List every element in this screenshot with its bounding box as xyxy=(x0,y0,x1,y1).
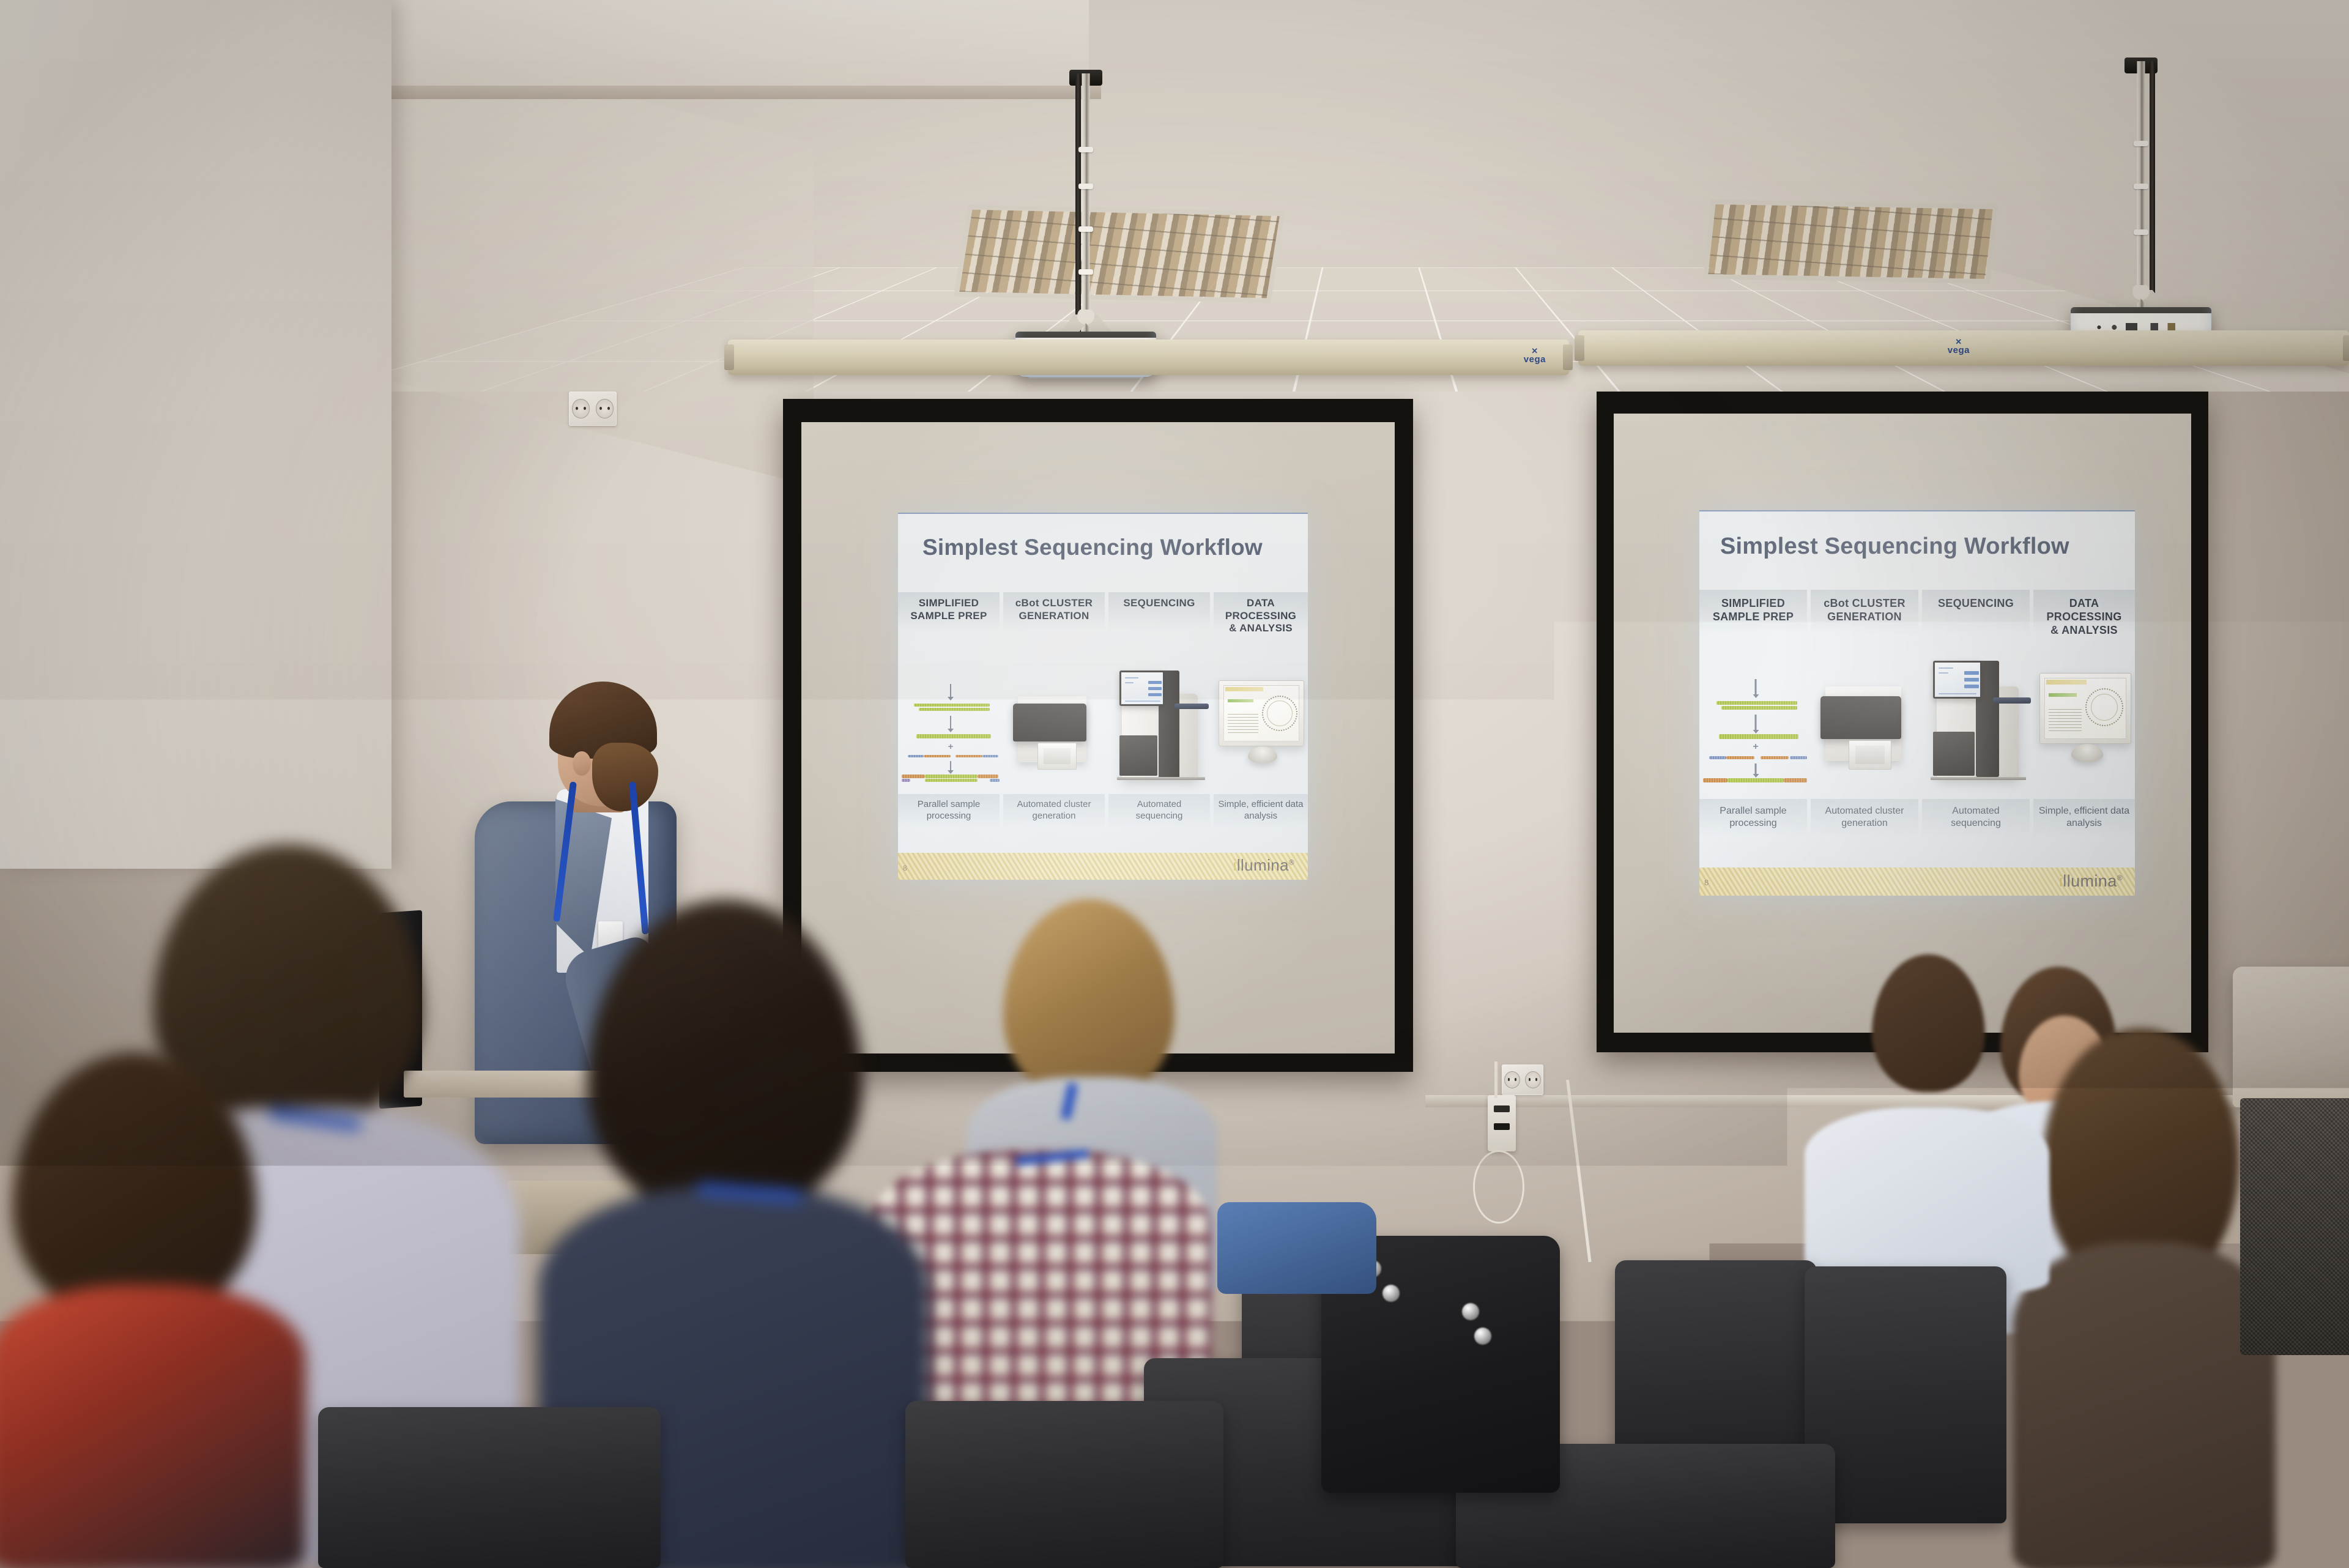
power-strip xyxy=(1488,1095,1516,1151)
slide-right: Simplest Sequencing Workflow SIMPLIFIEDS… xyxy=(1699,510,2135,896)
column-caption-1-left: Automated clustergeneration xyxy=(1003,799,1105,822)
illumina-logo-right: illumina® xyxy=(2059,872,2123,891)
column-caption-0-left: Parallel sampleprocessing xyxy=(898,799,1000,822)
column-caption-2-right: Automatedsequencing xyxy=(1922,805,2030,830)
column-heading-2-left: SEQUENCING xyxy=(1108,597,1210,610)
cbot-instrument-icon xyxy=(1009,689,1100,781)
lecture-room-photo: ✕ vega ✕ vega Simplest Sequencing Workfl… xyxy=(0,0,2349,1568)
cbot-instrument-icon-2 xyxy=(1817,682,1915,779)
dna-strands-icon-2: + xyxy=(1703,678,1808,776)
chair-mesh-right xyxy=(2240,1098,2349,1355)
projection-screen-casing-left: ✕ vega xyxy=(728,340,1569,375)
analysis-monitor-icon xyxy=(1216,677,1308,781)
vega-brand-badge-left: ✕ vega xyxy=(1524,347,1546,364)
column-heading-1-left: cBot CLUSTERGENERATION xyxy=(1003,597,1105,622)
chair-row-center-3 xyxy=(905,1401,1223,1568)
power-cable-drop xyxy=(1494,1061,1497,1098)
chair-row-left-1 xyxy=(318,1407,661,1568)
presenter-ear xyxy=(573,751,591,776)
column-heading-3-left: DATA PROCESSING& ANALYSIS xyxy=(1214,597,1308,635)
projector-pole-right xyxy=(2137,61,2145,349)
column-caption-0-right: Parallel sampleprocessing xyxy=(1699,805,1807,830)
chair-light-right xyxy=(2233,967,2349,1107)
slide-number-left: 8 xyxy=(903,864,907,872)
recessed-light-fixture-right xyxy=(1703,199,1998,284)
ceiling-soffit xyxy=(379,0,1089,92)
column-heading-2-right: SEQUENCING xyxy=(1922,597,2030,611)
sequencer-instrument-icon xyxy=(1111,660,1214,782)
analysis-monitor-icon-2 xyxy=(2037,669,2134,779)
left-wall-pillar xyxy=(0,0,391,869)
coiled-power-cable xyxy=(1473,1150,1524,1224)
wall-outlet-center xyxy=(1502,1065,1543,1095)
wall-outlet-left xyxy=(569,392,617,426)
blue-bag xyxy=(1217,1202,1376,1294)
projection-screen-right: Simplest Sequencing Workflow SIMPLIFIEDS… xyxy=(1597,392,2208,1052)
illumina-logo-left: illumina® xyxy=(1233,856,1294,875)
audience-member-red-top xyxy=(0,1052,343,1568)
dna-strands-icon: + xyxy=(902,683,1000,775)
ceiling-projector-right xyxy=(2071,61,2211,349)
column-heading-1-right: cBot CLUSTERGENERATION xyxy=(1811,597,1918,624)
projector-pole-left xyxy=(1082,73,1090,373)
projection-screen-casing-right: ✕ vega xyxy=(1578,330,2349,366)
sequencer-instrument-icon-2 xyxy=(1924,651,2035,781)
column-heading-3-right: DATA PROCESSING& ANALYSIS xyxy=(2033,597,2135,637)
ceiling-projector-left xyxy=(1012,73,1159,373)
slide-title-left: Simplest Sequencing Workflow xyxy=(922,535,1263,560)
column-caption-3-left: Simple, efficient dataanalysis xyxy=(1214,799,1308,822)
vega-brand-badge-right: ✕ vega xyxy=(1948,338,1970,355)
column-caption-3-right: Simple, efficient dataanalysis xyxy=(2033,805,2135,830)
audience-member-center-right xyxy=(1792,954,2049,1273)
column-caption-2-left: Automatedsequencing xyxy=(1108,799,1210,822)
slide-number-right: 8 xyxy=(1704,878,1709,887)
slide-title-right: Simplest Sequencing Workflow xyxy=(1720,533,2069,560)
column-caption-1-right: Automated clustergeneration xyxy=(1811,805,1918,830)
column-heading-0-left: SIMPLIFIEDSAMPLE PREP xyxy=(898,597,1000,622)
slide-left: Simplest Sequencing Workflow SIMPLIFIEDS… xyxy=(898,513,1308,880)
column-heading-0-right: SIMPLIFIEDSAMPLE PREP xyxy=(1699,597,1807,624)
soffit-edge-trim xyxy=(379,86,1101,99)
